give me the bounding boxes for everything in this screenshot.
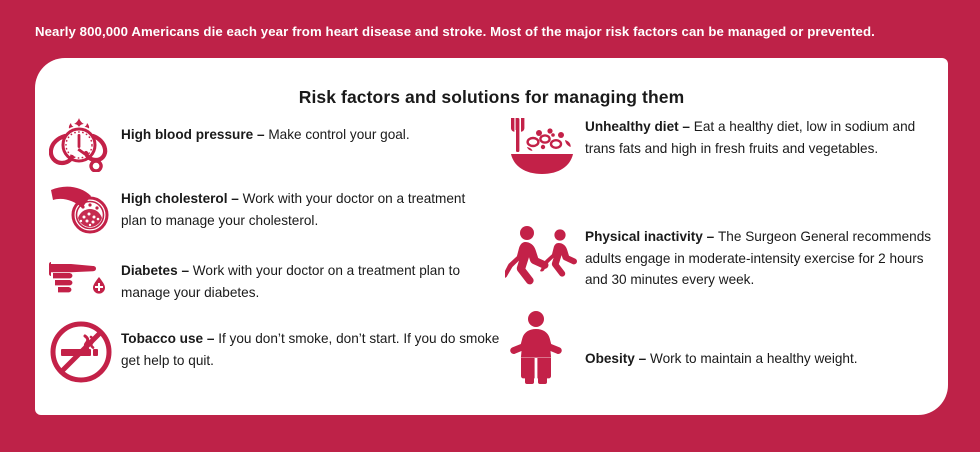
term-dash: –	[228, 191, 243, 206]
term-dash: –	[178, 263, 193, 278]
term-dash: –	[253, 127, 268, 142]
risk-factor-term: Obesity	[585, 351, 635, 366]
term-dash: –	[203, 331, 218, 346]
salad-bowl-fork-icon	[505, 114, 577, 180]
risk-factor-text: Unhealthy diet – Eat a healthy diet, low…	[585, 116, 935, 159]
page-title: Risk factors and solutions for managing …	[35, 87, 948, 108]
no-smoking-icon	[49, 320, 113, 384]
heart-blood-pressure-cuff-icon	[49, 114, 113, 172]
risk-factor-text: Physical inactivity – The Surgeon Genera…	[585, 226, 935, 291]
risk-factor-term: High cholesterol	[121, 191, 228, 206]
risk-factor-text: High blood pressure – Make control your …	[121, 124, 511, 146]
risk-factor-text: High cholesterol – Work with your doctor…	[121, 188, 493, 231]
term-dash: –	[703, 229, 718, 244]
risk-factor-columns: High blood pressure – Make control your …	[35, 114, 948, 414]
risk-factor-text: Obesity – Work to maintain a healthy wei…	[585, 348, 935, 370]
risk-factor-text: Diabetes – Work with your doctor on a tr…	[121, 260, 511, 303]
infographic-root: Nearly 800,000 Americans die each year f…	[0, 0, 980, 452]
risk-factor-term: Unhealthy diet	[585, 119, 679, 134]
term-dash: –	[679, 119, 694, 134]
risk-factor-text: Tobacco use – If you don’t smoke, don’t …	[121, 328, 501, 371]
term-dash: –	[635, 351, 650, 366]
risk-factor-term: Tobacco use	[121, 331, 203, 346]
risk-factor-description: Work to maintain a healthy weight.	[650, 351, 858, 366]
risk-factor-term: Diabetes	[121, 263, 178, 278]
risk-factor-description: Make control your goal.	[268, 127, 409, 142]
two-walking-figures-icon	[505, 224, 577, 296]
content-card: Risk factors and solutions for managing …	[35, 58, 948, 415]
risk-factor-term: High blood pressure	[121, 127, 253, 142]
finger-blood-drop-glucose-icon	[49, 254, 113, 304]
headline-text: Nearly 800,000 Americans die each year f…	[35, 24, 955, 39]
standing-figure-hands-on-hips-icon	[505, 310, 567, 386]
artery-plaque-cross-section-icon	[49, 182, 113, 238]
risk-factor-term: Physical inactivity	[585, 229, 703, 244]
